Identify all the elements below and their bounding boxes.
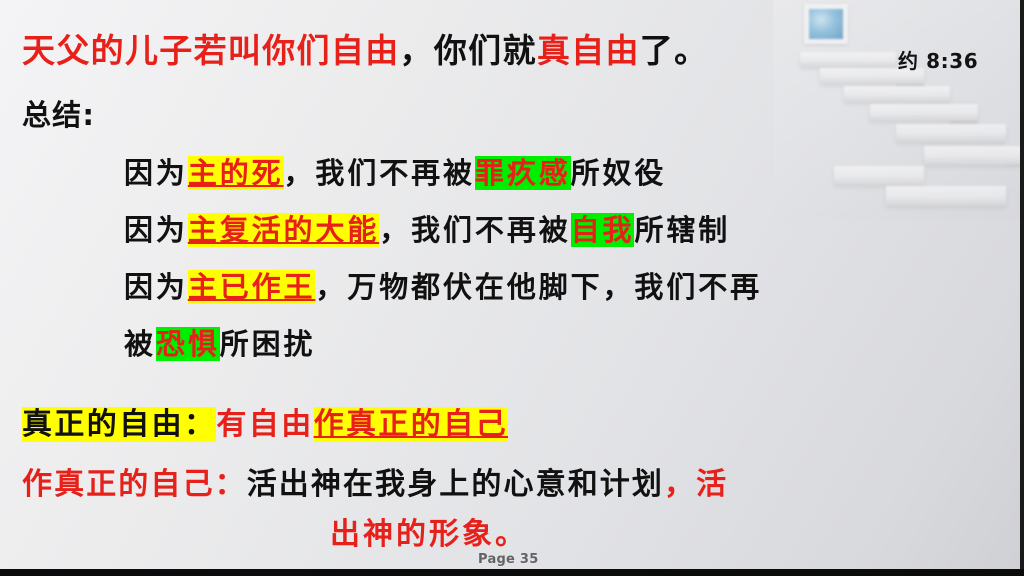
bullet-3-a: 因为 <box>124 270 188 304</box>
verse-part-1: 天父的儿子若叫你们自由 <box>22 31 400 70</box>
bullet-2-highlight-green: 自我 <box>571 213 635 247</box>
slide-bottom-bar <box>0 569 1024 576</box>
bullet-1-a: 因为 <box>124 156 188 190</box>
verse-reference: 约 8:36 <box>898 45 978 74</box>
bullet-3-c: ，万物都伏在他脚下，我们不再 <box>315 270 762 304</box>
bullet-4-highlight-green: 恐惧 <box>156 327 220 361</box>
verse-part-2: ，你们就 <box>400 31 537 70</box>
be-true-self-label: 作真正的自己： <box>22 467 247 502</box>
bullet-1-c: ，我们不再被 <box>284 156 475 190</box>
page-number-watermark: Page 35 <box>478 552 539 567</box>
be-true-self-line-continuation: 出神的形象。 <box>330 520 528 550</box>
bullet-1-highlight-yellow: 主的死 <box>188 156 284 190</box>
slide-right-edge <box>1020 0 1024 576</box>
summary-bullet-1: 因为主的死，我们不再被罪疚感所奴役 <box>124 159 666 188</box>
verse-line: 天父的儿子若叫你们自由，你们就真自由了。 <box>22 34 708 67</box>
be-true-self-tail: ，活 <box>664 467 728 502</box>
be-true-self-body: 活出神在我身上的心意和计划 <box>247 467 664 502</box>
verse-part-4: 了。 <box>640 31 709 70</box>
bullet-2-a: 因为 <box>124 213 188 247</box>
presentation-slide: 天父的儿子若叫你们自由，你们就真自由了。 约 8:36 总结: 因为主的死，我们… <box>0 0 1024 576</box>
summary-bullet-3-continuation: 被恐惧所困扰 <box>124 330 315 359</box>
be-true-self-wrap: 出神的形象。 <box>330 517 528 552</box>
bullet-2-e: 所辖制 <box>634 213 730 247</box>
bullet-1-highlight-green: 罪疚感 <box>475 156 571 190</box>
bullet-4-a: 被 <box>124 327 156 361</box>
bullet-3-highlight-yellow: 主已作王 <box>188 270 316 304</box>
bullet-2-highlight-yellow: 主复活的大能 <box>188 213 379 247</box>
be-true-self-line: 作真正的自己：活出神在我身上的心意和计划，活 <box>22 470 728 500</box>
slide-content: 天父的儿子若叫你们自由，你们就真自由了。 约 8:36 总结: 因为主的死，我们… <box>0 0 1024 576</box>
verse-part-3: 真自由 <box>537 31 640 70</box>
bullet-2-c: ，我们不再被 <box>379 213 570 247</box>
summary-heading-label: 总结: <box>22 98 95 132</box>
true-freedom-value: 有自由 <box>216 407 313 442</box>
true-freedom-line: 真正的自由：有自由作真正的自己 <box>22 410 508 440</box>
summary-bullet-2: 因为主复活的大能，我们不再被自我所辖制 <box>124 216 730 245</box>
summary-bullet-3: 因为主已作王，万物都伏在他脚下，我们不再 <box>124 273 762 302</box>
true-freedom-label: 真正的自由： <box>22 407 216 442</box>
summary-heading: 总结: <box>22 101 95 130</box>
true-freedom-highlight: 作真正的自己 <box>314 407 508 442</box>
bullet-1-e: 所奴役 <box>571 156 667 190</box>
bullet-4-e: 所困扰 <box>220 327 316 361</box>
